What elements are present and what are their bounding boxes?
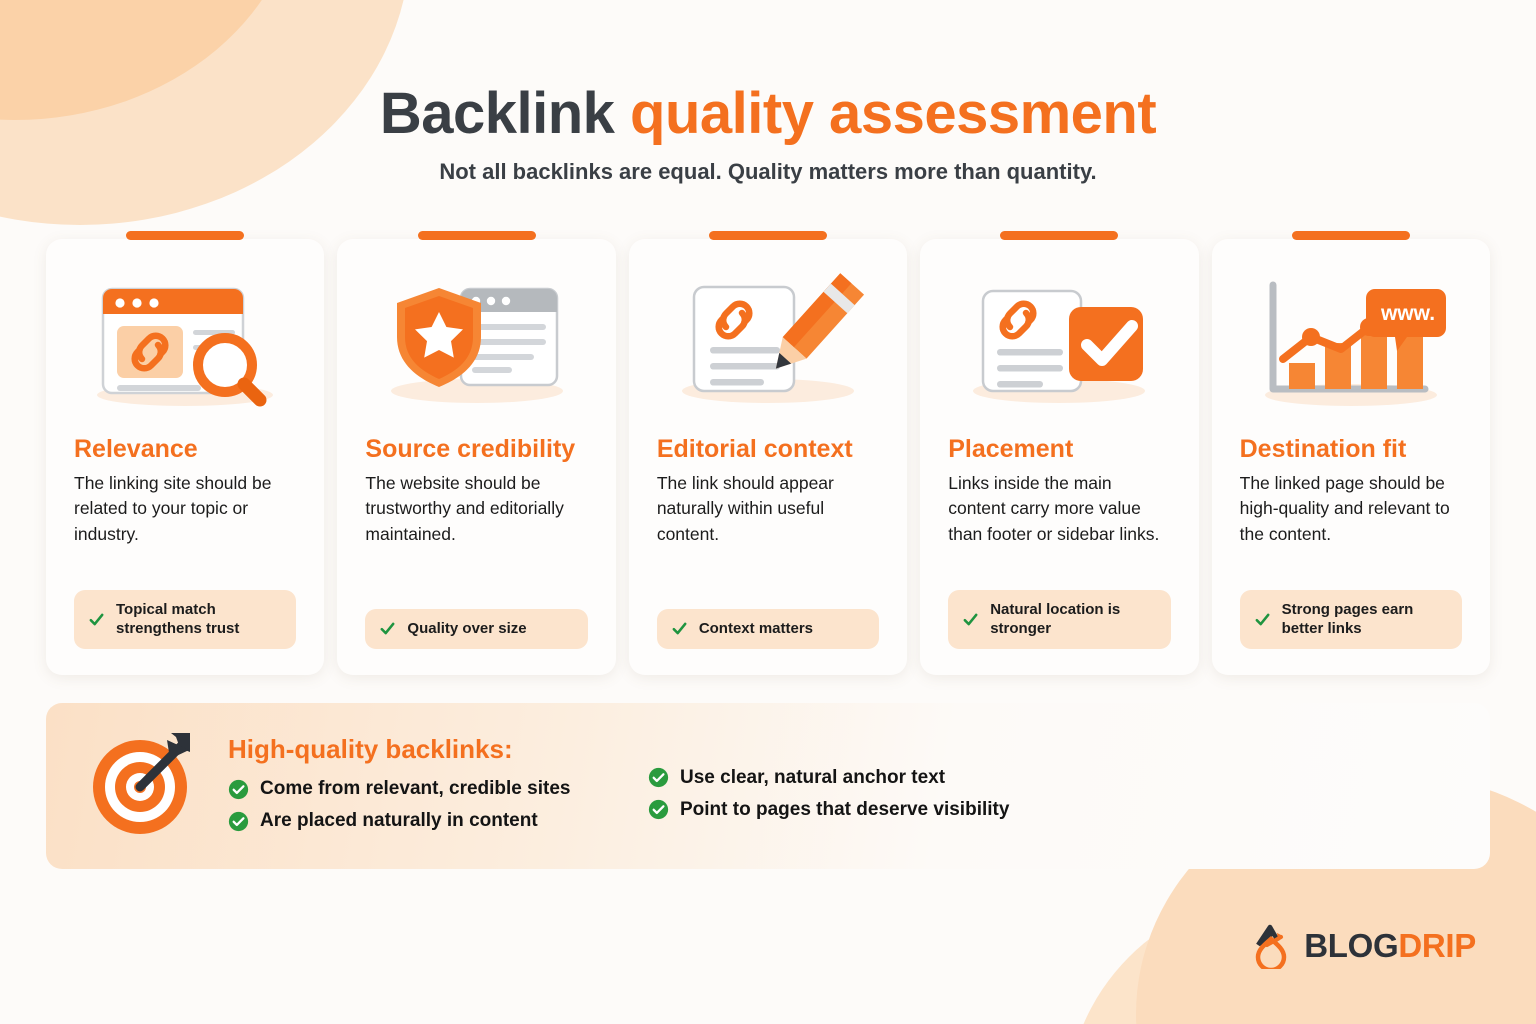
card-badge-text: Context matters (699, 620, 813, 638)
page-subtitle: Not all backlinks are equal. Quality mat… (46, 159, 1490, 185)
check-icon (1254, 611, 1271, 628)
summary-left-column: High-quality backlinks: Come from releva… (228, 734, 648, 837)
list-item-label: Are placed naturally in content (260, 810, 538, 832)
check-icon (671, 620, 688, 637)
check-icon (88, 611, 105, 628)
card-accent-bar (418, 231, 536, 240)
check-circle-icon (228, 779, 249, 800)
browser-link-search-icon (74, 273, 296, 413)
card-editorial-context[interactable]: Editorial context The link should appear… (629, 239, 907, 675)
target-arrow-icon (88, 727, 200, 844)
list-item: Are placed naturally in content (228, 805, 648, 837)
check-circle-icon (648, 799, 669, 820)
card-destination-fit[interactable]: www. Destination fit The linked page sho… (1212, 239, 1490, 675)
criteria-cards-row: Relevance The linking site should be rel… (46, 239, 1490, 675)
brand-logo[interactable]: BLOGDRIP (1251, 923, 1476, 969)
brand-logo-text: BLOGDRIP (1304, 927, 1476, 965)
card-accent-bar (126, 231, 244, 240)
list-item-label: Come from relevant, credible sites (260, 778, 570, 800)
list-item-label: Use clear, natural anchor text (680, 767, 945, 789)
card-title: Destination fit (1240, 435, 1462, 463)
card-placement[interactable]: Placement Links inside the main content … (920, 239, 1198, 675)
card-title: Placement (948, 435, 1170, 463)
card-badge: Topical match strengthens trust (74, 590, 296, 649)
document-link-pencil-icon (657, 273, 879, 413)
title-dark-part: Backlink (380, 81, 615, 146)
summary-banner: High-quality backlinks: Come from releva… (46, 703, 1490, 869)
card-relevance[interactable]: Relevance The linking site should be rel… (46, 239, 324, 675)
card-title: Editorial context (657, 435, 879, 463)
document-link-checkmark-icon (948, 273, 1170, 413)
check-icon (379, 620, 396, 637)
card-badge: Quality over size (365, 609, 587, 649)
list-item: Use clear, natural anchor text (648, 762, 1009, 794)
card-badge-text: Quality over size (407, 620, 526, 638)
card-source-credibility[interactable]: Source credibility The website should be… (337, 239, 615, 675)
card-title: Relevance (74, 435, 296, 463)
check-circle-icon (648, 767, 669, 788)
card-badge: Context matters (657, 609, 879, 649)
card-badge-text: Topical match strengthens trust (116, 601, 282, 638)
blogdrip-droplet-icon (1251, 923, 1293, 969)
card-accent-bar (709, 231, 827, 240)
card-description: The website should be trustworthy and ed… (365, 471, 587, 547)
logo-text-accent: DRIP (1398, 927, 1476, 964)
summary-content: High-quality backlinks: Come from releva… (228, 734, 1450, 837)
title-accent-part: quality assessment (630, 81, 1156, 146)
shield-star-window-icon (365, 273, 587, 413)
card-description: Links inside the main content carry more… (948, 471, 1170, 547)
infographic-page: Backlink quality assessment Not all back… (0, 0, 1536, 1024)
summary-left-bullets: Come from relevant, credible sites Are p… (228, 773, 648, 837)
card-description: The linked page should be high-quality a… (1240, 471, 1462, 547)
growth-chart-www-icon: www. (1240, 273, 1462, 413)
summary-right-bullets: Use clear, natural anchor text Point to … (648, 762, 1009, 826)
summary-heading: High-quality backlinks: (228, 734, 648, 765)
card-badge-text: Strong pages earn better links (1282, 601, 1448, 638)
card-accent-bar (1292, 231, 1410, 240)
card-description: The link should appear naturally within … (657, 471, 879, 547)
list-item: Come from relevant, credible sites (228, 773, 648, 805)
card-description: The linking site should be related to yo… (74, 471, 296, 547)
svg-text:www.: www. (1380, 302, 1435, 325)
card-badge-text: Natural location is stronger (990, 601, 1156, 638)
list-item-label: Point to pages that deserve visibility (680, 799, 1009, 821)
page-header: Backlink quality assessment Not all back… (46, 0, 1490, 185)
logo-text-dark: BLOG (1304, 927, 1398, 964)
check-icon (962, 611, 979, 628)
card-badge: Strong pages earn better links (1240, 590, 1462, 649)
page-footer: BLOGDRIP (46, 869, 1490, 1024)
card-accent-bar (1000, 231, 1118, 240)
check-circle-icon (228, 811, 249, 832)
card-badge: Natural location is stronger (948, 590, 1170, 649)
page-title: Backlink quality assessment (46, 84, 1490, 145)
card-title: Source credibility (365, 435, 587, 463)
list-item: Point to pages that deserve visibility (648, 794, 1009, 826)
summary-right-column: Use clear, natural anchor text Point to … (648, 746, 1009, 826)
